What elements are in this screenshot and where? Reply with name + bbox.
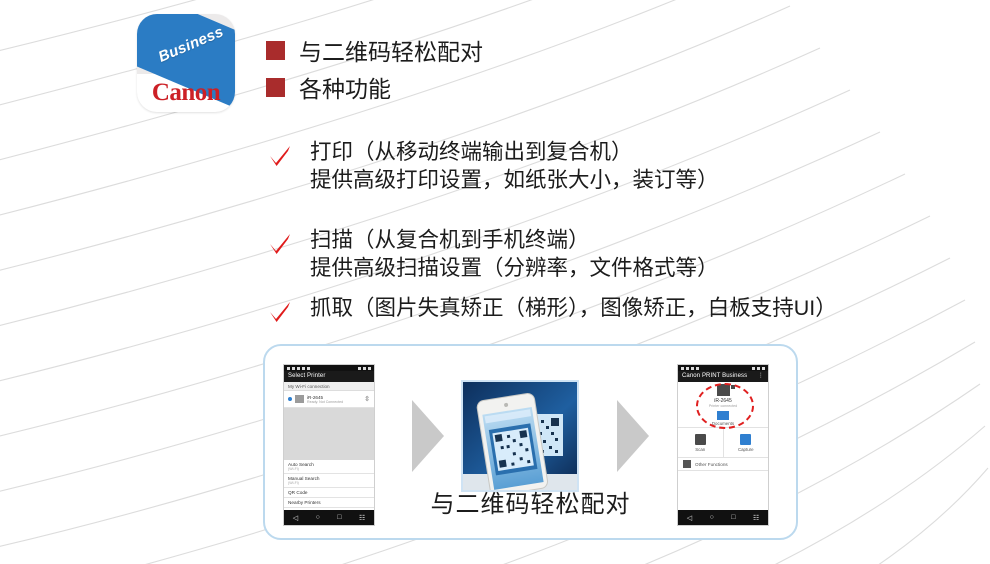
scan-icon xyxy=(695,434,706,445)
square-bullet-icon xyxy=(266,78,285,97)
feature-row-capture: 抓取（图片失真矫正（梯形），图像矫正，白板支持UI） xyxy=(268,294,837,324)
app-title: Canon PRINT Business xyxy=(682,371,747,382)
icon-brand-label: Canon xyxy=(137,79,235,107)
printer-info: iR-2645 Ready. Not Connected xyxy=(307,395,361,404)
printer-sub: Ready. Not Connected xyxy=(307,400,361,404)
square-bullet-icon xyxy=(266,41,285,60)
printer-icon xyxy=(295,395,304,403)
feature-row-print: 打印（从移动终端输出到复合机） 提供高级打印设置，如纸张大小，装订等） xyxy=(268,138,719,195)
tile-scan[interactable]: Scan xyxy=(678,428,723,457)
menu-item-auto-search[interactable]: Auto Search (Wi-Fi) xyxy=(284,460,374,474)
feature-line-1: 扫描（从复合机到手机终端） xyxy=(310,228,590,252)
feature-line-2: 提供高级打印设置，如纸张大小，装订等） xyxy=(310,166,719,194)
flow-arrow-2 xyxy=(613,396,653,476)
feature-text-scan: 扫描（从复合机到手机终端） 提供高级扫描设置（分辨率，文件格式等） xyxy=(310,226,719,283)
other-functions-icon xyxy=(683,460,691,468)
slide-root: Business Canon 与二维码轻松配对 各种功能 打印（从移动终端输出到… xyxy=(0,0,990,564)
more-vert-icon[interactable]: ⋮ xyxy=(758,371,764,382)
function-tiles: Scan Capture xyxy=(678,428,768,458)
check-icon xyxy=(268,232,292,256)
wifi-section-label: My Wi-Fi connection xyxy=(284,382,374,391)
share-icon[interactable]: ⇳ xyxy=(364,395,370,403)
empty-list-area xyxy=(284,408,374,460)
canon-print-business-app-icon: Business Canon xyxy=(137,14,235,112)
app-bar: Select Printer xyxy=(284,371,374,382)
printer-list-item[interactable]: iR-2645 Ready. Not Connected ⇳ xyxy=(284,391,374,408)
tile-capture[interactable]: Capture xyxy=(723,428,769,457)
flow-panel: Select Printer My Wi-Fi connection iR-26… xyxy=(263,344,798,540)
app-bar: Canon PRINT Business ⋮ xyxy=(678,371,768,382)
select-printer-title: Select Printer xyxy=(288,371,325,382)
tile-label: Capture xyxy=(738,447,754,452)
capture-icon xyxy=(740,434,751,445)
other-functions-row[interactable]: Other Functions xyxy=(678,458,768,471)
headline-row-2: 各种功能 xyxy=(266,70,391,104)
flow-arrow-1 xyxy=(408,396,448,476)
headline-row-1: 与二维码轻松配对 xyxy=(266,33,483,67)
check-icon xyxy=(268,300,292,324)
menu-sub: (Wi-Fi) xyxy=(288,467,370,471)
check-icon xyxy=(268,144,292,168)
feature-line-2: 提供高级扫描设置（分辨率，文件格式等） xyxy=(310,254,719,282)
tile-label: Scan xyxy=(695,447,705,452)
red-dashed-highlight-circle xyxy=(696,383,754,429)
other-functions-label: Other Functions xyxy=(695,462,728,467)
headline-label-1: 与二维码轻松配对 xyxy=(299,33,483,67)
feature-line-1: 打印（从移动终端输出到复合机） xyxy=(310,140,633,164)
printer-status-card[interactable]: iR-2645 Printer connected Documents xyxy=(678,382,768,428)
flow-caption: 与二维码轻松配对 xyxy=(265,484,796,519)
radio-selected-icon[interactable] xyxy=(288,397,292,401)
feature-text-capture: 抓取（图片失真矫正（梯形），图像矫正，白板支持UI） xyxy=(310,294,837,322)
phone-scanning-qr-code-photo xyxy=(461,380,579,492)
feature-row-scan: 扫描（从复合机到手机终端） 提供高级扫描设置（分辨率，文件格式等） xyxy=(268,226,719,283)
headline-label-2: 各种功能 xyxy=(299,70,391,104)
feature-text-print: 打印（从移动终端输出到复合机） 提供高级打印设置，如纸张大小，装订等） xyxy=(310,138,719,195)
feature-line-1: 抓取（图片失真矫正（梯形），图像矫正，白板支持UI） xyxy=(310,296,837,320)
